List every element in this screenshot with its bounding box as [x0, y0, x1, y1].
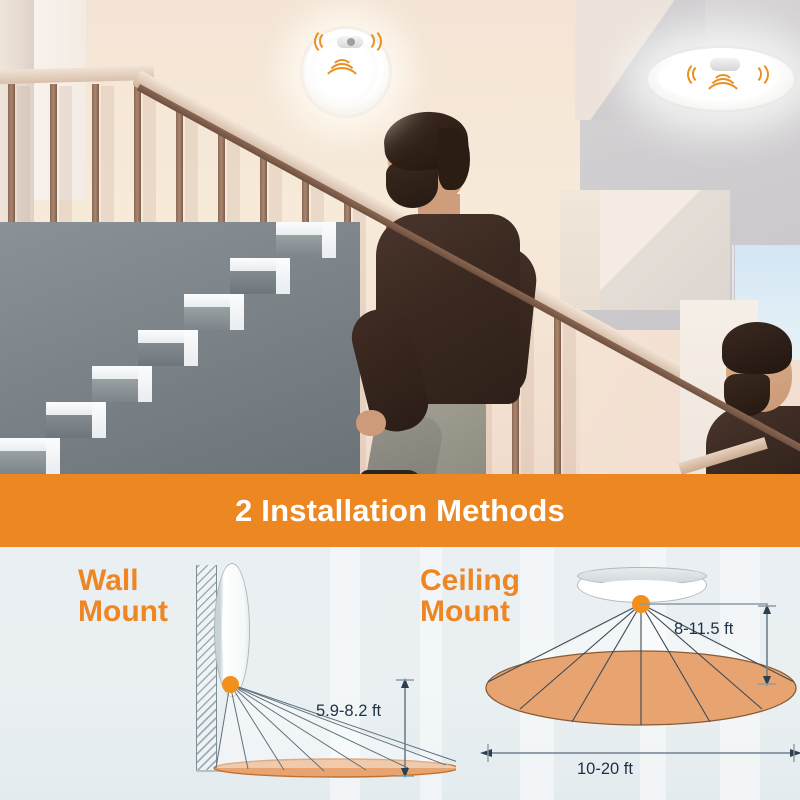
stair-tread-face	[92, 402, 106, 438]
stair-riser	[46, 415, 92, 438]
ceiling-mount-height-label: 8-11.5 ft	[674, 620, 733, 639]
man2-hair	[722, 322, 792, 374]
lifestyle-photo: // placeholder replaced below by layout …	[0, 0, 800, 474]
wall-mount-range-label: 5.9-8.2 ft	[316, 702, 381, 721]
lamp-body	[646, 46, 796, 112]
staircase	[0, 222, 360, 474]
baluster-shadow	[563, 306, 576, 474]
man-hair-back	[438, 128, 470, 190]
motion-wave-icon	[742, 61, 769, 88]
wall-motion-sensor-dot	[222, 676, 239, 693]
ceiling-mount-diameter-label: 10-20 ft	[577, 760, 633, 779]
wall-mount-title-line2: Mount	[78, 597, 168, 628]
motion-wave-icon	[321, 67, 363, 109]
ceiling-detection-zone	[476, 596, 800, 726]
section-banner: 2 Installation Methods	[0, 474, 800, 547]
ceiling-height-dimension-line	[757, 602, 777, 694]
product-feature-image: // placeholder replaced below by layout …	[0, 0, 800, 800]
stair-tread-face	[138, 366, 152, 402]
ceiling-diameter-dimension-line	[476, 742, 800, 764]
stair-tread-face	[322, 222, 336, 258]
stair-riser	[276, 235, 322, 258]
sensor-lens	[347, 38, 355, 46]
stair-tread-face	[184, 330, 198, 366]
stair-tread-face	[230, 294, 244, 330]
ceiling-mount-title-line1: Ceiling	[420, 566, 520, 597]
wall-mount-title-line1: Wall	[78, 566, 168, 597]
man-hand	[356, 410, 386, 436]
hallway-ceiling-light	[646, 36, 796, 116]
lamp-sensor-module	[710, 58, 740, 71]
wall-mount-dimension-line	[395, 676, 415, 786]
stair-riser	[92, 379, 138, 402]
stair-riser	[0, 451, 46, 474]
motion-wave-icon	[314, 28, 341, 55]
stairway-ceiling-light	[300, 26, 392, 118]
stair-riser	[184, 307, 230, 330]
banner-title: 2 Installation Methods	[235, 493, 565, 529]
motion-wave-icon	[355, 28, 382, 55]
baluster	[554, 304, 561, 474]
wall-mount-title: Wall Mount	[78, 566, 168, 627]
stair-tread-face	[276, 258, 290, 294]
ceiling-height-leader-line	[640, 598, 770, 610]
stair-tread-face	[46, 438, 60, 474]
motion-wave-icon	[687, 61, 714, 88]
stair-riser	[230, 271, 276, 294]
stair-riser	[138, 343, 184, 366]
motion-wave-icon	[702, 82, 744, 124]
